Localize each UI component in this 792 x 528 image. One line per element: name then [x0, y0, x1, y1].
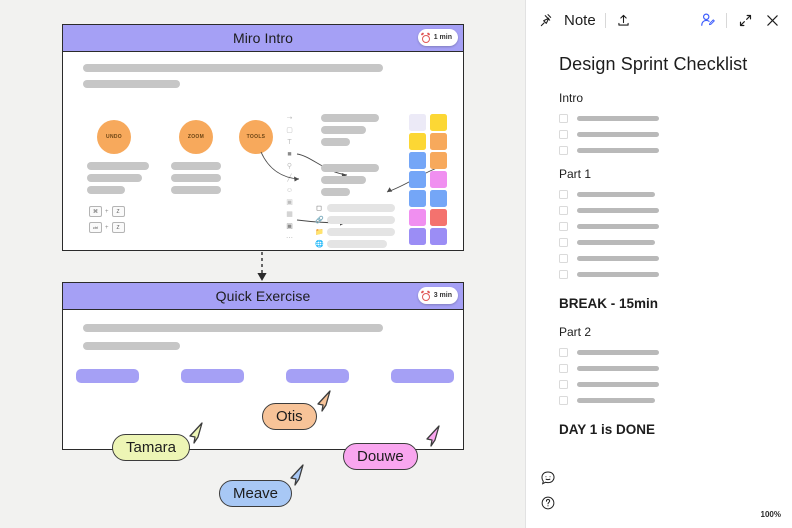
- checklist-item[interactable]: [559, 130, 770, 139]
- text-bar: [327, 204, 395, 212]
- cursor-name-pill[interactable]: Tamara: [112, 434, 190, 461]
- list-item: 🌐: [315, 240, 387, 248]
- cursor-name: Tamara: [126, 439, 176, 456]
- timer-label: 3 min: [434, 292, 452, 299]
- color-swatch[interactable]: [409, 171, 426, 188]
- monitor-icon: ◻: [315, 204, 323, 212]
- cursor-arrow-icon: [314, 390, 334, 412]
- section-heading: Part 1: [559, 167, 770, 181]
- timer-badge[interactable]: 3 min: [418, 287, 458, 304]
- more-icon[interactable]: ⋯: [285, 234, 294, 243]
- checkbox[interactable]: [559, 270, 568, 279]
- checklist: [559, 114, 770, 155]
- frame-body: [63, 310, 463, 449]
- timer-label: 1 min: [434, 34, 452, 41]
- close-icon[interactable]: [763, 11, 781, 29]
- note-sections: IntroPart 1BREAK - 15minPart 2DAY 1 is D…: [559, 91, 770, 437]
- text-bar: [83, 64, 383, 72]
- checklist-item-text: [577, 132, 659, 137]
- timer-badge[interactable]: 1 min: [418, 29, 458, 46]
- color-swatch[interactable]: [409, 133, 426, 150]
- color-swatch[interactable]: [430, 171, 447, 188]
- checkbox[interactable]: [559, 114, 568, 123]
- checklist-item[interactable]: [559, 380, 770, 389]
- text-bar: [83, 342, 180, 350]
- checklist-item[interactable]: [559, 348, 770, 357]
- alarm-clock-icon: [421, 291, 431, 301]
- grid-icon[interactable]: ▦: [285, 210, 294, 219]
- checklist-item[interactable]: [559, 206, 770, 215]
- text-bar: [83, 80, 180, 88]
- chat-smiley-icon[interactable]: [540, 470, 557, 487]
- checklist: [559, 348, 770, 405]
- checklist-item-text: [577, 240, 655, 245]
- checklist: [559, 190, 770, 279]
- checkbox[interactable]: [559, 238, 568, 247]
- section-heading: BREAK - 15min: [559, 296, 770, 311]
- color-swatch[interactable]: [430, 209, 447, 226]
- cursor-name: Meave: [233, 485, 278, 502]
- text-icon[interactable]: T: [285, 138, 294, 147]
- cursor-name-pill[interactable]: Douwe: [343, 443, 418, 470]
- orange-circle-label: TOOLS: [247, 134, 266, 140]
- edit-collaborator-icon[interactable]: [699, 11, 717, 29]
- action-block[interactable]: [76, 369, 139, 383]
- expand-diagonal-icon[interactable]: [736, 11, 754, 29]
- plus-sign: +: [105, 209, 109, 215]
- text-bar: [87, 186, 125, 194]
- cursor-name-pill[interactable]: Otis: [262, 403, 317, 430]
- text-bar: [327, 240, 387, 248]
- cursor-icon[interactable]: ➝: [285, 114, 294, 123]
- color-swatch[interactable]: [409, 152, 426, 169]
- checkbox[interactable]: [559, 222, 568, 231]
- cursor-arrow-icon: [186, 422, 206, 444]
- alarm-clock-icon: [421, 33, 431, 43]
- note-panel-header: Note: [526, 0, 792, 40]
- text-bar: [171, 162, 221, 170]
- checklist-item[interactable]: [559, 114, 770, 123]
- frame-quick-exercise[interactable]: Quick Exercise 3 min: [62, 282, 464, 450]
- list-item: 🔗: [315, 216, 395, 224]
- list-item: 📁: [315, 228, 395, 236]
- checklist-item-text: [577, 116, 659, 121]
- orange-circle-label: UNDO: [106, 134, 122, 140]
- frame-header[interactable]: Miro Intro 1 min: [63, 25, 463, 52]
- checklist-item-text: [577, 256, 659, 261]
- template-icon[interactable]: ▣: [285, 222, 294, 231]
- checkbox[interactable]: [559, 206, 568, 215]
- color-swatch[interactable]: [430, 133, 447, 150]
- globe-icon: 🌐: [315, 240, 323, 248]
- color-swatch[interactable]: [409, 228, 426, 245]
- color-swatch[interactable]: [409, 114, 426, 131]
- text-bar: [321, 138, 350, 146]
- text-bar: [321, 126, 366, 134]
- shortcut-row-ctrl-z: ctrl + Z: [89, 222, 125, 233]
- checkbox[interactable]: [559, 364, 568, 373]
- frame-icon[interactable]: ▣: [285, 198, 294, 207]
- checkbox[interactable]: [559, 396, 568, 405]
- color-swatch[interactable]: [430, 152, 447, 169]
- checklist-item[interactable]: [559, 190, 770, 199]
- frame-title: Quick Exercise: [216, 288, 311, 304]
- checklist-item[interactable]: [559, 254, 770, 263]
- cursor-name-pill[interactable]: Meave: [219, 480, 292, 507]
- pin-icon[interactable]: [537, 11, 555, 29]
- text-bar: [83, 324, 383, 332]
- checklist-item-text: [577, 208, 659, 213]
- sticky-note-icon[interactable]: ▢: [285, 126, 294, 135]
- key-letter: Z: [112, 206, 125, 217]
- note-footer: 100%: [526, 470, 792, 528]
- text-bar: [87, 162, 149, 170]
- text-bar: [321, 188, 350, 196]
- section-heading: Intro: [559, 91, 770, 105]
- color-swatch[interactable]: [430, 228, 447, 245]
- divider: [726, 13, 727, 28]
- cursor-arrow-icon: [287, 464, 307, 486]
- frame-header[interactable]: Quick Exercise 3 min: [63, 283, 463, 310]
- link-icon: 🔗: [315, 216, 323, 224]
- checkbox[interactable]: [559, 130, 568, 139]
- text-bar: [87, 174, 142, 182]
- action-block[interactable]: [181, 369, 244, 383]
- color-swatch[interactable]: [409, 190, 426, 207]
- checklist-item[interactable]: [559, 396, 770, 405]
- checklist-item-text: [577, 398, 655, 403]
- checkbox[interactable]: [559, 380, 568, 389]
- color-swatch[interactable]: [430, 114, 447, 131]
- text-bar: [321, 176, 366, 184]
- checklist-item-text: [577, 224, 659, 229]
- text-bar: [327, 216, 395, 224]
- checklist-item-text: [577, 350, 659, 355]
- text-bar: [327, 228, 395, 236]
- divider: [605, 13, 606, 28]
- checklist-item-text: [577, 148, 659, 153]
- folder-icon: 📁: [315, 228, 323, 236]
- note-title: Design Sprint Checklist: [559, 54, 770, 75]
- color-swatch[interactable]: [409, 209, 426, 226]
- checkbox[interactable]: [559, 348, 568, 357]
- checklist-item-text: [577, 192, 655, 197]
- zoom-level-label: 100%: [761, 510, 781, 519]
- frame-miro-intro[interactable]: Miro Intro 1 min UNDO ZOOM TOOLS: [62, 24, 464, 251]
- text-bar: [171, 174, 221, 182]
- section-heading: DAY 1 is DONE: [559, 422, 770, 437]
- text-bar: [321, 164, 379, 172]
- frame-body: UNDO ZOOM TOOLS ⌘ + Z ctrl +: [63, 52, 463, 250]
- checklist-item[interactable]: [559, 270, 770, 279]
- checklist-item[interactable]: [559, 222, 770, 231]
- list-item: ◻: [315, 204, 395, 212]
- key-modifier: ctrl: [89, 222, 102, 233]
- key-letter: Z: [112, 222, 125, 233]
- checklist-item-text: [577, 382, 659, 387]
- text-bar: [321, 114, 379, 122]
- action-block[interactable]: [391, 369, 454, 383]
- checkbox[interactable]: [559, 190, 568, 199]
- orange-circle-zoom[interactable]: ZOOM: [179, 120, 213, 154]
- shortcut-row-cmd-z: ⌘ + Z: [89, 206, 125, 217]
- section-heading: Part 2: [559, 325, 770, 339]
- key-modifier: ⌘: [89, 206, 102, 217]
- plus-sign: +: [105, 225, 109, 231]
- note-body: Design Sprint Checklist IntroPart 1BREAK…: [526, 40, 792, 437]
- checklist-item[interactable]: [559, 238, 770, 247]
- checklist-item-text: [577, 272, 659, 277]
- checkbox[interactable]: [559, 146, 568, 155]
- frame-title: Miro Intro: [233, 30, 293, 46]
- orange-circle-label: ZOOM: [188, 134, 204, 140]
- note-panel-title: Note: [564, 12, 596, 29]
- checklist-item[interactable]: [559, 364, 770, 373]
- action-block[interactable]: [286, 369, 349, 383]
- checklist-item[interactable]: [559, 146, 770, 155]
- color-swatch[interactable]: [430, 190, 447, 207]
- cursor-name: Douwe: [357, 448, 404, 465]
- share-upload-icon[interactable]: [615, 11, 633, 29]
- miro-canvas[interactable]: Miro Intro 1 min UNDO ZOOM TOOLS: [0, 0, 525, 528]
- text-bar: [171, 186, 221, 194]
- cursor-arrow-icon: [423, 425, 443, 447]
- note-panel[interactable]: Note Design Sprint Check: [525, 0, 792, 528]
- checklist-item-text: [577, 366, 659, 371]
- help-question-icon[interactable]: [540, 495, 557, 512]
- flow-arrow-icon: [255, 252, 269, 282]
- orange-circle-undo[interactable]: UNDO: [97, 120, 131, 154]
- checkbox[interactable]: [559, 254, 568, 263]
- cursor-name: Otis: [276, 408, 303, 425]
